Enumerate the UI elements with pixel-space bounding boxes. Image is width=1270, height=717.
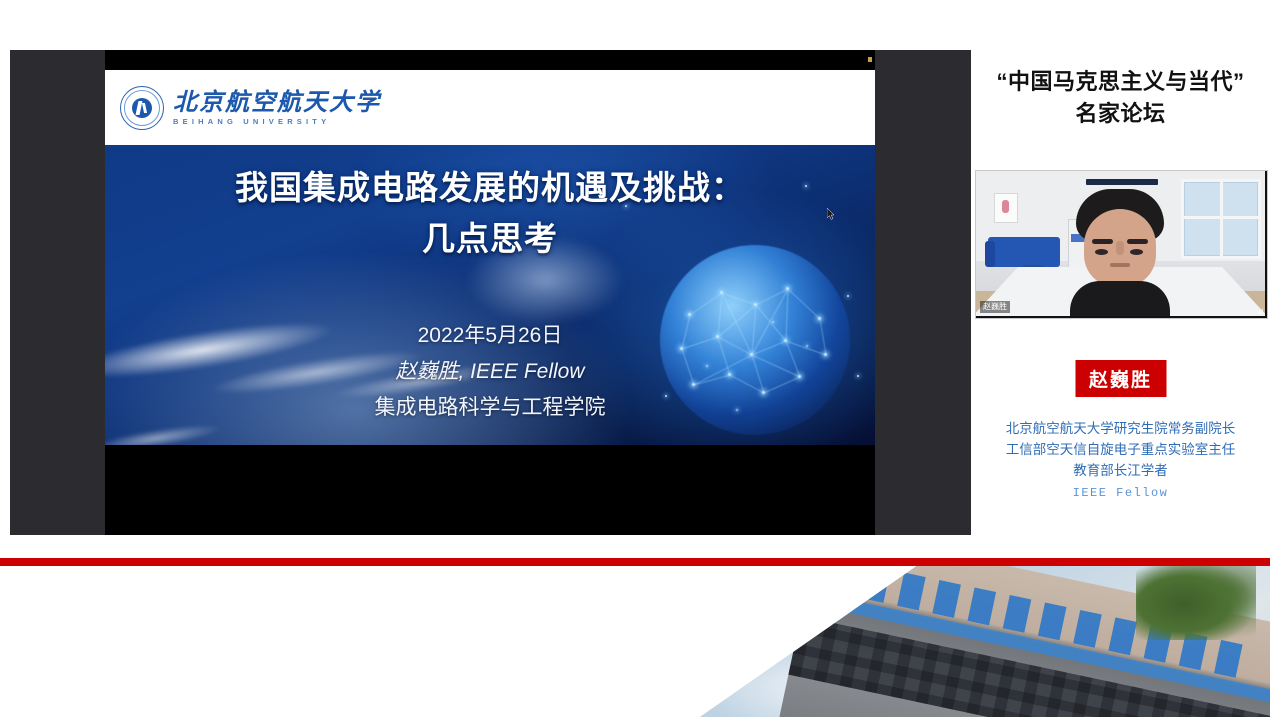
share-top-letterbox — [105, 50, 875, 70]
share-bottom-letterbox — [105, 513, 875, 535]
presentation-slide: 北京航空航天大学 BEIHANG UNIVERSITY — [105, 70, 875, 445]
video-person — [1068, 189, 1172, 316]
slide-header: 北京航空航天大学 BEIHANG UNIVERSITY — [105, 70, 875, 145]
speaker-name-badge: 赵巍胜 — [1075, 360, 1166, 397]
participant-video-tile[interactable]: 赵巍胜 — [975, 170, 1268, 319]
speaker-bio-line-2: 工信部空天信自旋电子重点实验室主任 — [971, 439, 1270, 460]
buaa-logo-en-slide: BEIHANG UNIVERSITY — [173, 118, 381, 126]
banner-red-divider — [0, 558, 1270, 566]
video-window — [1181, 179, 1261, 259]
forum-title-line2: 名家论坛 — [971, 98, 1270, 130]
slide-title-line1: 我国集成电路发展的机遇及挑战： — [105, 162, 875, 213]
video-participant-name: 赵巍胜 — [980, 301, 1010, 313]
slide-title-line2: 几点思考 — [105, 213, 875, 264]
forum-title-line1: “中国马克思主义与当代” — [971, 66, 1270, 98]
buaa-logo-slide: 北京航空航天大学 BEIHANG UNIVERSITY — [120, 86, 381, 130]
share-indicator-dot — [868, 57, 872, 62]
speaker-bio: 北京航空航天大学研究生院常务副院长 工信部空天信自旋电子重点实验室主任 教育部长… — [971, 418, 1270, 504]
slide-subtitle-author: 赵巍胜, IEEE Fellow — [105, 354, 875, 390]
photo-tree-foliage — [1136, 566, 1256, 640]
screen-share-panel[interactable]: 北京航空航天大学 BEIHANG UNIVERSITY — [10, 50, 971, 535]
buaa-seal-icon — [120, 86, 164, 130]
slide-subtitle-org: 集成电路科学与工程学院 — [105, 390, 875, 426]
speaker-bio-line-1: 北京航空航天大学研究生院常务副院长 — [971, 418, 1270, 439]
video-blind — [1086, 179, 1158, 185]
bottom-banner: 北京航空航天大学 BEIHANG UNIVERSITY 馬 马克思主义学院 SC… — [0, 535, 1270, 717]
video-corner-icon — [1257, 308, 1263, 314]
slide-title: 我国集成电路发展的机遇及挑战： 几点思考 — [105, 162, 875, 264]
slide-subtitle-date: 2022年5月26日 — [105, 318, 875, 354]
speaker-bio-ieee: IEEE Fellow — [971, 483, 1270, 504]
slide-subtitle-block: 2022年5月26日 赵巍胜, IEEE Fellow 集成电路科学与工程学院 — [105, 318, 875, 426]
screen-root: 北京航空航天大学 BEIHANG UNIVERSITY — [0, 0, 1270, 717]
buaa-logo-cn-slide: 北京航空航天大学 — [173, 90, 381, 114]
right-column: “中国马克思主义与当代” 名家论坛 — [971, 50, 1270, 535]
video-person-mouth — [1110, 263, 1130, 267]
video-scene: 赵巍胜 — [976, 171, 1265, 316]
shared-screen-content[interactable]: 北京航空航天大学 BEIHANG UNIVERSITY — [105, 50, 875, 535]
video-sofa — [988, 237, 1060, 267]
video-person-nose — [1116, 241, 1124, 255]
video-person-body — [1070, 281, 1170, 316]
forum-title: “中国马克思主义与当代” 名家论坛 — [971, 66, 1270, 130]
speaker-bio-line-3: 教育部长江学者 — [971, 460, 1270, 481]
campus-building-photo — [700, 566, 1270, 717]
video-wall-art — [994, 193, 1018, 223]
